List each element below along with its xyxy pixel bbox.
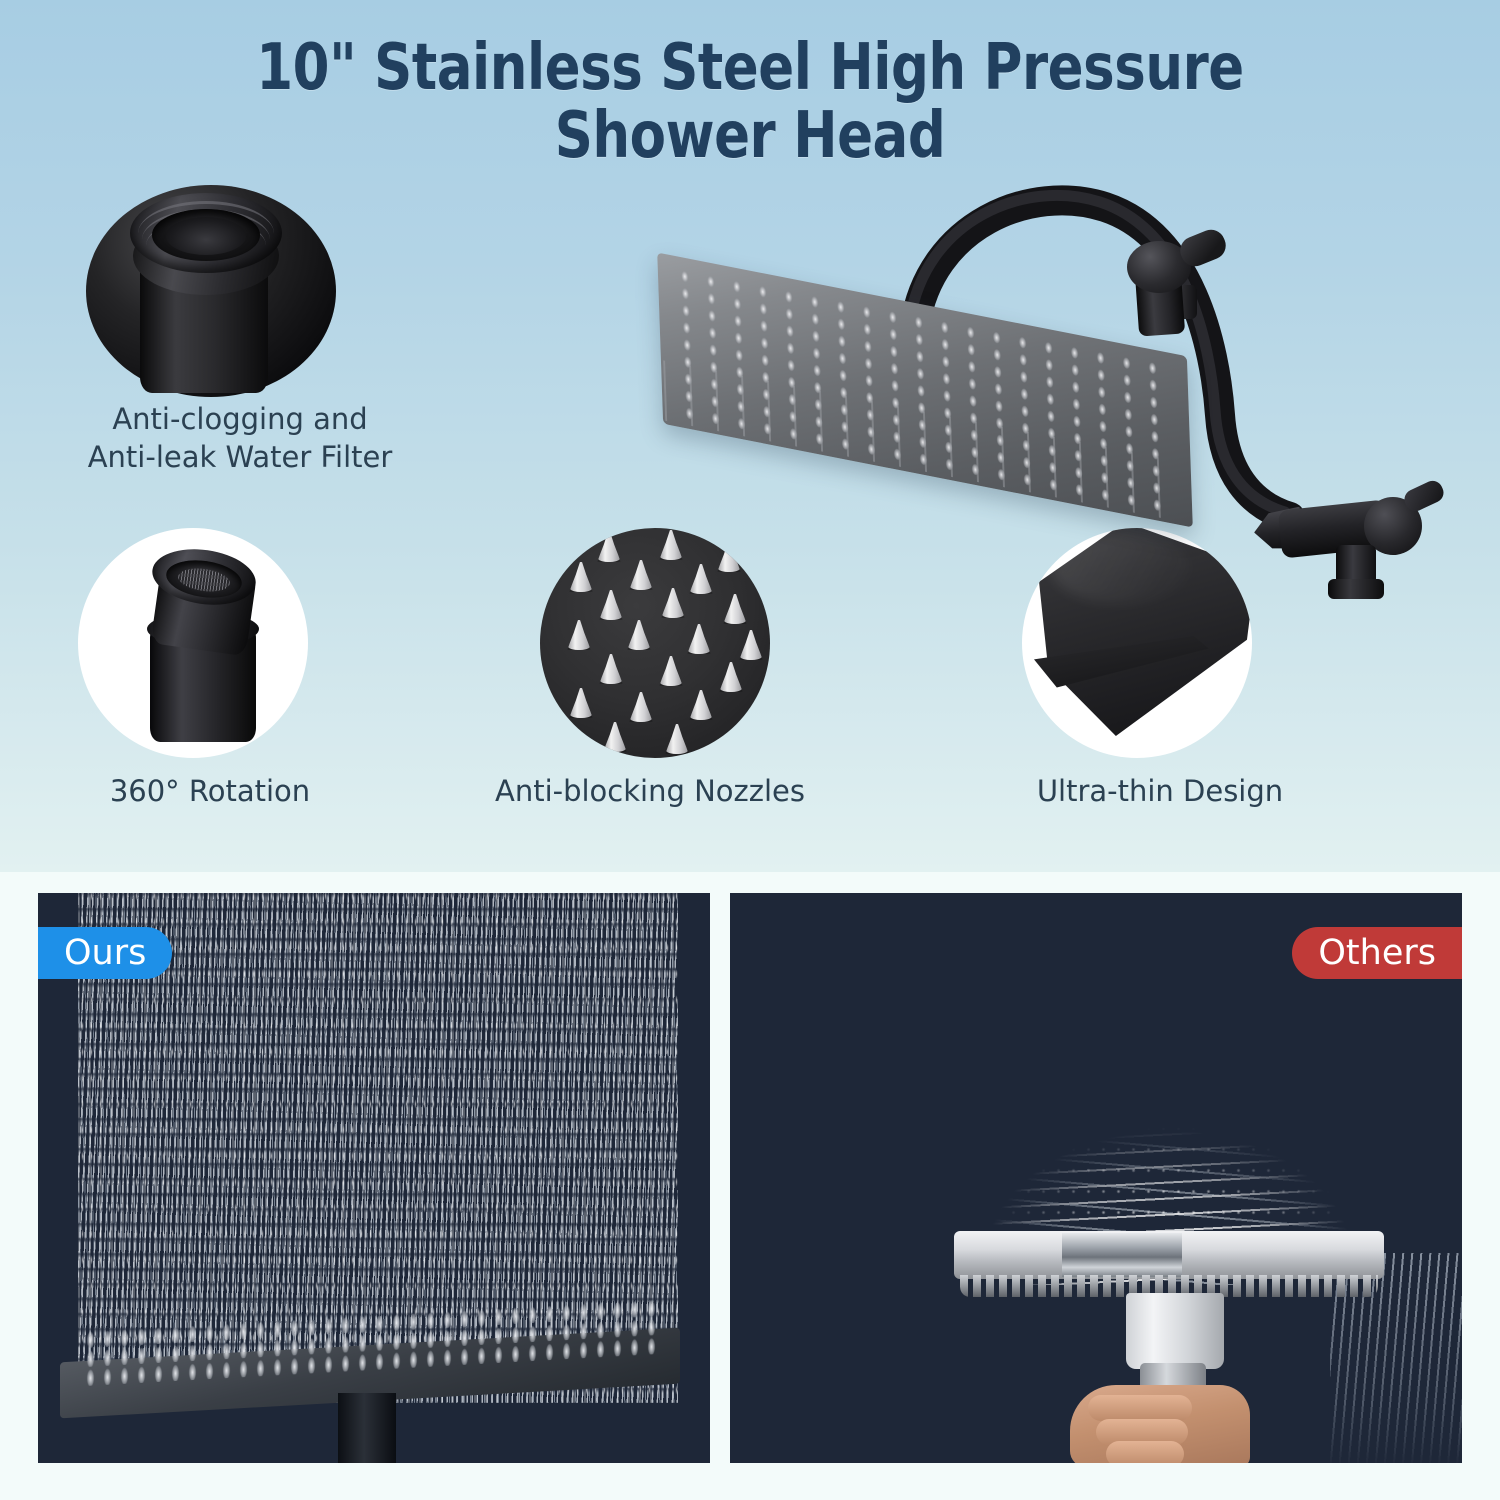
comparison-panel-others: Others: [730, 893, 1462, 1463]
filter-connector-icon: [78, 165, 346, 395]
others-holding-hand: [1070, 1385, 1250, 1463]
top-gradient-panel: 10" Stainless Steel High Pressure Shower…: [0, 0, 1500, 872]
comparison-panel-ours: Ours: [38, 893, 710, 1463]
badge-others: Others: [1292, 927, 1462, 979]
feature-caption-filter: Anti-clogging and Anti-leak Water Filter: [20, 400, 460, 476]
title-line-2: Shower Head: [60, 102, 1440, 170]
title-line-1: 10" Stainless Steel High Pressure: [60, 34, 1440, 102]
caption-line-1: Anti-clogging and: [20, 400, 460, 438]
feature-caption-ultrathin: Ultra-thin Design: [960, 772, 1360, 810]
badge-ours: Ours: [38, 927, 172, 979]
arm-end-wing-nut: [1401, 478, 1447, 515]
caption-line-2: Anti-leak Water Filter: [20, 438, 460, 476]
hero-shower-head: [640, 175, 1440, 635]
others-handle: [1126, 1293, 1224, 1369]
infographic-page: 10" Stainless Steel High Pressure Shower…: [0, 0, 1500, 1500]
others-spray-droplets: [976, 1013, 1368, 1263]
others-chrome-band: [1062, 1233, 1182, 1277]
swivel-connector-icon: [78, 528, 308, 758]
ours-stem: [338, 1393, 396, 1463]
comparison-section: Ours Others: [0, 872, 1500, 1500]
feature-caption-nozzles: Anti-blocking Nozzles: [470, 772, 830, 810]
page-title: 10" Stainless Steel High Pressure Shower…: [60, 34, 1440, 170]
filter-inner-bore: [166, 217, 246, 255]
arm-end-cap: [1328, 579, 1384, 599]
feature-caption-rotation: 360° Rotation: [40, 772, 380, 810]
